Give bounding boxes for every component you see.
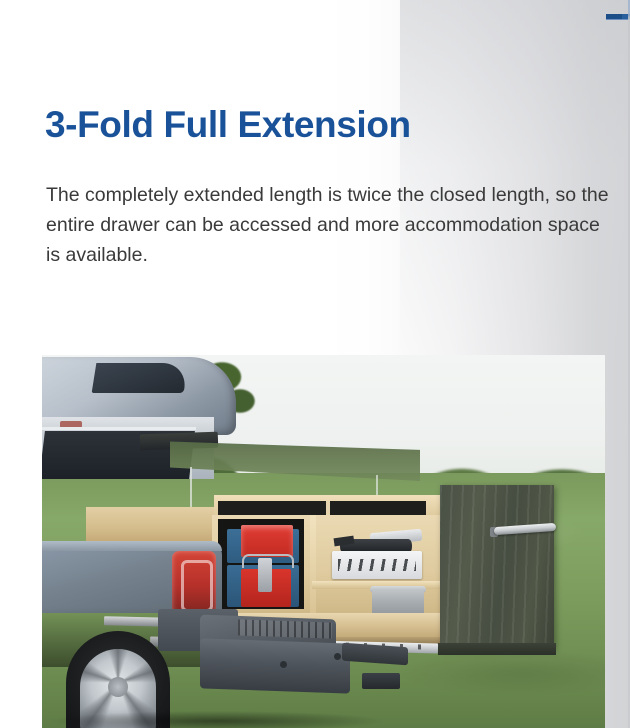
product-photo [42,355,605,728]
cabinet-center-divider [310,515,316,619]
drawer-front-base-trim [438,643,556,655]
vehicle-ground-shadow [52,711,382,728]
tow-hitch-receiver [362,673,400,689]
stove-vent-slots [338,559,416,571]
taillight-inner-ring [181,560,213,612]
truck-bed-lip [42,541,222,551]
cab-window [92,363,189,393]
wheel-hub-cap [108,677,128,697]
truck-trim-strip [42,427,196,430]
slide-canvas: 3-Fold Full Extension The completely ext… [0,0,630,728]
bumper-bolt-right [334,653,341,660]
red-cooler-lid-upper [241,525,293,557]
page-title: 3-Fold Full Extension [45,104,411,146]
cooler-latch [258,558,272,592]
tailgate-ribs [238,619,332,638]
bumper-bolt-left [280,661,287,668]
body-paragraph: The completely extended length is twice … [46,180,611,270]
drawer-front-grain [440,485,554,649]
rear-bumper [200,638,350,693]
